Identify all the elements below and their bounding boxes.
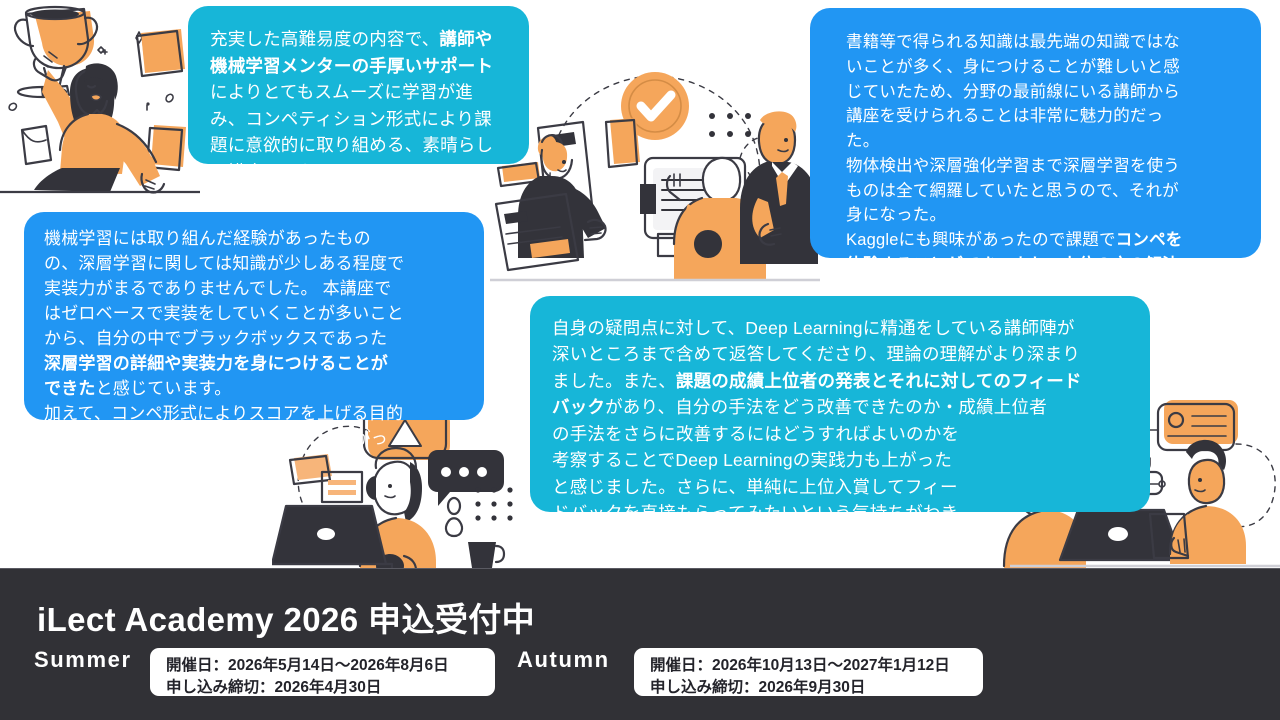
deadline-autumn: 申し込み締切：2026年9月30日	[650, 677, 969, 699]
season-label-autumn: Autumn	[517, 647, 610, 673]
testimonial-card-2: 書籍等で得られる知識は最先端の知識ではな いことが多く、身につけることが難しいと…	[810, 8, 1261, 258]
dot-grid	[475, 487, 512, 520]
testimonial-card-4: 自身の疑問点に対して、Deep Learningに精通をしている講師陣が 深いと…	[530, 296, 1150, 512]
deadline-summer: 申し込み締切：2026年4月30日	[166, 677, 481, 699]
headphone-cup	[366, 476, 376, 500]
poster-canvas: 充実した高難易度の内容で、講師や 機械学習メンターの手厚いサポート によりとても…	[0, 0, 1280, 720]
dot-grid	[709, 113, 751, 137]
person-suit	[740, 111, 818, 264]
page-title: iLect Academy 2026 申込受付中	[37, 593, 535, 641]
date-box-autumn: 開催日：2026年10月13日〜2027年1月12日 申し込み締切：2026年9…	[634, 648, 983, 696]
date-box-summer: 開催日：2026年5月14日〜2026年8月6日 申し込み締切：2026年4月3…	[150, 648, 495, 696]
floating-page-2	[22, 126, 51, 164]
period-autumn: 開催日：2026年10月13日〜2027年1月12日	[650, 655, 969, 677]
period-summer: 開催日：2026年5月14日〜2026年8月6日	[166, 655, 481, 677]
coffee-mug	[468, 542, 504, 568]
testimonial-text-3: 機械学習には取り組んだ経験があったもの の、深層学習に関しては知識が少しある程度…	[44, 227, 466, 477]
testimonial-card-3: 機械学習には取り組んだ経験があったもの の、深層学習に関しては知識が少しある程度…	[24, 212, 484, 420]
floating-page-1	[137, 29, 185, 76]
testimonial-card-1: 充実した高難易度の内容で、講師や 機械学習メンターの手厚いサポート によりとても…	[188, 6, 529, 164]
season-label-summer: Summer	[34, 647, 132, 673]
testimonial-text-2: 書籍等で得られる知識は最先端の知識ではな いことが多く、身につけることが難しいと…	[846, 30, 1241, 302]
testimonial-text-1: 充実した高難易度の内容で、講師や 機械学習メンターの手厚いサポート によりとても…	[210, 26, 511, 186]
abstract-shapes	[446, 498, 462, 536]
trophy-celebration-illustration	[0, 0, 200, 200]
laptop	[272, 506, 392, 570]
team-approval-illustration	[490, 58, 820, 298]
testimonial-text-4: 自身の疑問点に対して、Deep Learningに精通をしている講師陣が 深いと…	[552, 315, 1130, 553]
